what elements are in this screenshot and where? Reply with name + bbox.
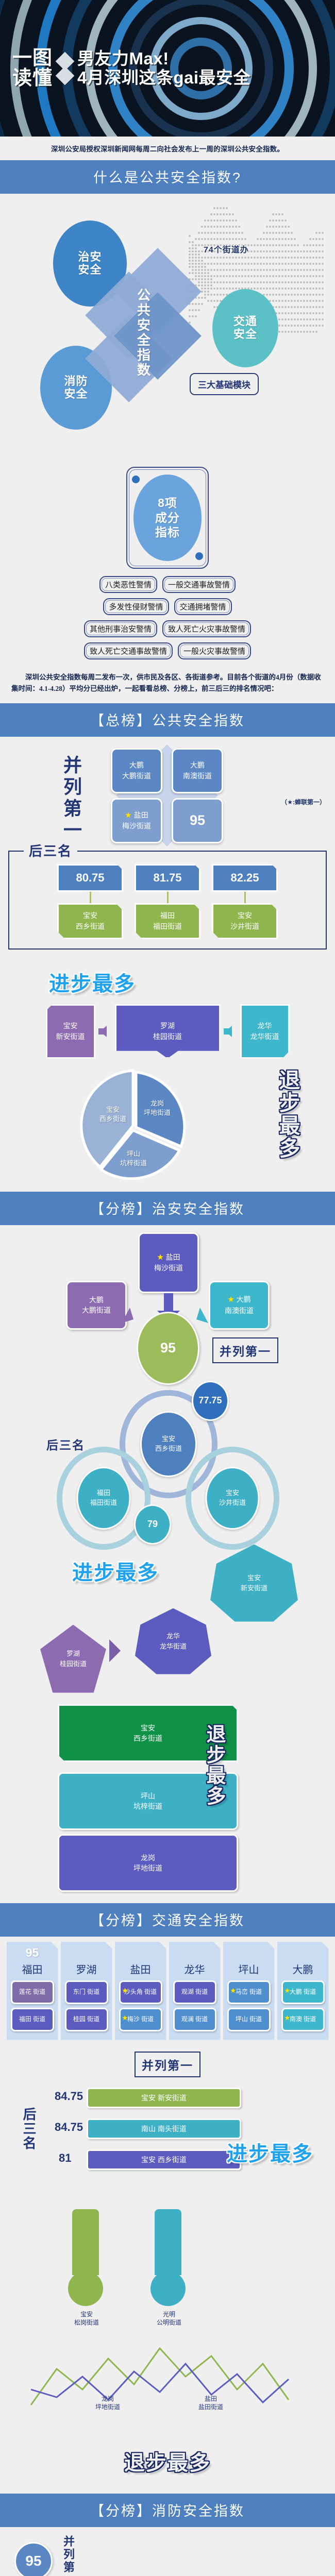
jiaotong-cell: 坪山 街道	[227, 2008, 271, 2031]
total-top-title: 并列第一	[58, 755, 85, 842]
thermo-bar-1	[72, 2209, 99, 2275]
star-legend: （★:蝉联第一）	[281, 798, 326, 806]
total-top-card-2: 大鹏 南澳街道	[172, 748, 223, 793]
total-top-quad: 大鹏 大鹏街道 大鹏 南澳街道 ★ 盐田 梅沙街道 95	[111, 748, 223, 843]
street: 沙井街道	[230, 921, 259, 932]
declined-line-svg	[0, 2328, 335, 2431]
street: 坑梓街道	[133, 1801, 162, 1811]
column-score	[63, 1946, 110, 1960]
total-bottom3-group: 后三名 80.75 宝安 西乡街道 81.75 福田 福田街道 82.25	[8, 851, 327, 950]
connector-stem	[90, 892, 91, 903]
jiaotong-most-improved-title: 进步最多	[227, 2143, 313, 2165]
indicator-chip: 一般交通事故警情	[162, 576, 236, 593]
bottom3-item: 80.75 宝安 西乡街道	[57, 864, 123, 939]
street: 坑梓街道	[120, 1159, 147, 1167]
badge-line2: 成分	[155, 511, 180, 524]
zhian-most-improved-title: 进步最多	[72, 1562, 159, 1584]
indicators-badge: 8项 成分 指标	[133, 474, 202, 561]
cell-street: 南澳 街道	[290, 2015, 316, 2023]
bubble-line2: 安全	[64, 387, 88, 400]
zhian-top-card-left: 大鹏 大鹏街道	[66, 1281, 127, 1330]
zhian-top-block: ★ 盐田 梅沙街道 大鹏 大鹏街道 ★ 大鹏 南澳街道 95 并列第一 宝安 西…	[0, 1225, 335, 1442]
jiaotong-cell: ★ 南澳 街道	[281, 2008, 325, 2031]
thermo-bulb-1	[68, 2271, 103, 2306]
district: 宝安	[80, 2311, 93, 2318]
street: 南澳街道	[225, 1306, 254, 1316]
district: 宝安	[247, 1573, 261, 1583]
jiaotong-most-declined-linechart: 龙岗 坪地街道 盐田 盐田街道	[0, 2328, 335, 2441]
indicator-chip: 其他刑事治安警情	[84, 620, 157, 637]
hero-right-title: 男友力Max! 4月深圳这条gai最安全	[77, 49, 250, 88]
xiaofang-top-header: 95 并列第一	[0, 2527, 335, 2576]
jiaotong-cell: 观湖 街道	[173, 1980, 216, 2004]
jiaotong-bottom3: 后三名 宝安 新安街道 84.75 南山 南头街道 84.75 宝安 西乡街道 …	[0, 2080, 335, 2209]
arrow-left-cyan-icon	[192, 1308, 208, 1327]
jiaotong-top-grid: 95 福田 莲花 街道 福田 街道 罗湖 东门 街道 桂园 街道 盐田 ★ 沙头…	[0, 1937, 335, 2040]
district: 罗湖	[66, 1649, 80, 1659]
pin-icon-topleft	[132, 476, 140, 483]
zhian-bottom3-ring-3: 宝安 沙井街道	[186, 1447, 279, 1550]
total-most-declined-title: 退步最多	[272, 1069, 303, 1160]
street: 龙华街道	[160, 1641, 187, 1652]
hero-left-line1: 一图	[12, 48, 53, 69]
card-district: 大鹏	[129, 760, 144, 770]
infographic-page: 一图 读懂 男友力Max! 4月深圳这条gai最安全 深圳公安局授权深圳新闻网每…	[0, 0, 335, 2576]
district: 龙华	[166, 1631, 180, 1641]
cell-street: 马峦 街道	[236, 1988, 262, 1996]
street: 桂园街道	[60, 1659, 87, 1669]
ring-label: 宝安 沙井街道	[206, 1467, 260, 1530]
jiaotong-bottom3-bar-3: 宝安 西乡街道	[87, 2149, 241, 2170]
street: 公明街道	[157, 2319, 181, 2326]
improved-card-center: 罗湖 桂园街道	[115, 1004, 221, 1059]
district: 福田	[97, 1489, 110, 1497]
star-icon: ★	[284, 1986, 291, 1995]
hero-left-line2: 读懂	[12, 69, 53, 89]
improved-card-left: 宝安 新安街道	[46, 1004, 95, 1059]
star-icon: ★	[230, 1986, 237, 1995]
zhian-improved-lower: 罗湖 桂园街道 龙华 龙华街道 宝安 西乡街道	[0, 1627, 335, 1730]
cell-street: 沙头角 街道	[124, 1988, 157, 1996]
jiaotong-cell: 莲花 街道	[11, 1980, 54, 2004]
jiaotong-cell: ★ 沙头角 街道	[119, 1980, 162, 2004]
star-icon: ★	[122, 1986, 128, 1995]
street: 桂园街道	[153, 1031, 182, 1042]
ring-score: 79	[134, 1504, 171, 1545]
pie-slice-label-2: 宝安 西乡街道	[90, 1105, 136, 1125]
pie-slice-label-3: 坪山 坑梓街道	[110, 1149, 157, 1169]
zhian-improved-poly-2: 罗湖 桂园街道	[40, 1625, 106, 1693]
column-district: 龙华	[172, 1961, 218, 1976]
section-band-zhian: 【分榜】治安安全指数	[0, 1192, 335, 1225]
thermo-bar-2	[155, 2209, 181, 2275]
card-street: 南澳街道	[183, 771, 212, 781]
bottom3-name: 宝安 沙井街道	[212, 903, 278, 939]
cell-street: 大鹏 街道	[290, 1988, 316, 1996]
pin-icon-bottomright	[195, 552, 203, 560]
diamond-divider-icon	[56, 55, 74, 82]
district: 宝安	[141, 2093, 156, 2103]
ring-score: 77.75	[192, 1381, 229, 1421]
street: 坪地街道	[133, 1863, 162, 1873]
district: 福田	[160, 910, 175, 921]
jiaotong-cell: ★ 梅沙 街道	[119, 2008, 162, 2031]
jiaotong-improved-thermometer: 宝安 松岗街道 光明 公明街道	[0, 2209, 335, 2328]
jiaotong-bottom3-score-3: 81	[59, 2151, 71, 2165]
jiaotong-most-declined-title: 退步最多	[124, 2452, 211, 2475]
bottom3-score: 82.25	[212, 864, 278, 892]
district: 宝安	[83, 910, 97, 921]
declined-label-1: 龙岗 坪地街道	[95, 2395, 120, 2412]
jiaotong-cell: ★ 大鹏 街道	[281, 1980, 325, 2004]
total-bottom3-title: 后三名	[24, 841, 77, 860]
thermo-label-1: 宝安 松岗街道	[62, 2310, 111, 2328]
column-district: 盐田	[118, 1961, 164, 1976]
zhian-declined-block: 坪山 坑梓街道 龙岗 坪地街道 退步最多	[0, 1730, 335, 1869]
district: 光明	[163, 2311, 175, 2318]
street: 梅沙街道	[154, 1263, 183, 1273]
street: 大鹏街道	[82, 1305, 111, 1315]
zhian-declined-bar-3: 龙岗 坪地街道	[58, 1834, 238, 1892]
xiaofang-top-title: 并列第一	[60, 2535, 76, 2576]
district: 大鹏	[237, 1295, 251, 1303]
improved-card-right: 龙华 龙华街道	[240, 1004, 290, 1059]
connector-stem	[167, 892, 169, 903]
jiaotong-column: 盐田 ★ 沙头角 街道 ★ 梅沙 街道	[115, 1942, 166, 2040]
jiaotong-column: 坪山 ★ 马峦 街道 坪山 街道	[223, 1942, 275, 2040]
intro-paragraph: 深圳公共安全指数每周二发布一次，供市民及各区、各街道参考。目前各个街道的4月份（…	[0, 663, 335, 703]
street: 新安街道	[241, 1583, 267, 1594]
bottom3-name: 宝安 西乡街道	[57, 903, 123, 939]
indicator-chip: 致人死亡火灾事故警情	[162, 620, 251, 637]
indicator-chip: 一般火灾事故警情	[178, 642, 251, 659]
zhian-top-card-center: ★ 盐田 梅沙街道	[138, 1232, 199, 1293]
zhian-bottom3-lower-rings: 福田 福田街道 79 宝安 沙井街道 进步最多 宝安 新安街道	[0, 1442, 335, 1627]
map-street-count-label: 74个街道办	[204, 243, 249, 255]
column-score	[118, 1946, 164, 1960]
district: 宝安	[106, 1106, 120, 1113]
district: 南山	[141, 2124, 156, 2134]
section-band-what-is: 什么是公共安全指数?	[0, 160, 335, 194]
jiaotong-column: 大鹏 ★ 大鹏 街道 ★ 南澳 街道	[277, 1942, 329, 2040]
indicators-badge-wrap: 8项 成分 指标	[0, 467, 335, 518]
bubble-line1: 交通	[233, 315, 257, 328]
district: 宝安	[226, 1489, 239, 1497]
jiaotong-column: 罗湖 东门 街道 桂园 街道	[61, 1942, 112, 2040]
street: 坪地街道	[95, 2403, 120, 2411]
zhian-top-card-right: ★ 大鹏 南澳街道	[209, 1281, 270, 1330]
total-most-improved-title: 进步最多	[49, 973, 136, 995]
zhian-top-title: 并列第一	[212, 1337, 278, 1363]
street: 南头街道	[158, 2124, 187, 2134]
section-band-total: 【总榜】公共安全指数	[0, 703, 335, 737]
cell-street: 梅沙 街道	[127, 2015, 154, 2023]
thermo-label-2: 光明 公明街道	[144, 2310, 194, 2328]
xiaofang-top-score: 95	[14, 2542, 53, 2576]
total-top-card-1: 大鹏 大鹏街道	[111, 748, 162, 793]
arrow-right-purple-icon	[109, 1639, 121, 1662]
indicator-chip: 多发性侵财警情	[103, 598, 169, 615]
column-district: 福田	[9, 1961, 56, 1976]
connector-stem	[244, 892, 246, 903]
indicator-chip: 八类恶性警情	[99, 576, 157, 593]
line-series-purple	[31, 2364, 289, 2402]
lede-text: 深圳公安局授权深圳新闻网每周二向社会发布上一周的深圳公共安全指数。	[0, 137, 335, 160]
indicators-frame: 8项 成分 指标	[126, 467, 209, 569]
jiaotong-cell: 观澜 街道	[173, 2008, 216, 2031]
bubble-line1: 消防	[64, 375, 88, 387]
district: 龙岗	[150, 1099, 164, 1107]
column-district: 大鹏	[280, 1961, 326, 1976]
jiaotong-column: 95 福田 莲花 街道 福田 街道	[7, 1942, 58, 2040]
bottom3-name: 福田 福田街道	[135, 903, 200, 939]
line-series-green	[31, 2348, 289, 2405]
ring-label: 福田 福田街道	[77, 1467, 131, 1530]
total-most-improved-flow: 宝安 新安街道 罗湖 桂园街道 龙华 龙华街道	[0, 997, 335, 1063]
street: 福田街道	[153, 921, 182, 932]
total-most-declined-pie: 龙岗 坪地街道 宝安 西乡街道 坪山 坑梓街道 退步最多	[0, 1063, 335, 1192]
street: 西乡街道	[158, 2155, 187, 2165]
street: 新安街道	[158, 2093, 187, 2103]
badge-line3: 指标	[155, 526, 180, 539]
district: 罗湖	[160, 1021, 175, 1031]
section-band-jiaotong: 【分榜】交通安全指数	[0, 1903, 335, 1937]
street: 沙井街道	[219, 1499, 246, 1506]
star-icon: ★	[227, 1295, 234, 1304]
card-district: 大鹏	[190, 760, 205, 770]
bubble-line2: 安全	[233, 328, 257, 341]
indicator-chip: 交通拥堵警情	[174, 598, 232, 615]
total-top-card-3: ★ 盐田 梅沙街道	[111, 798, 162, 843]
district: 盐田	[166, 1253, 180, 1261]
arrow-left-purple-icon	[98, 1025, 112, 1038]
thermo-bulb-2	[150, 2271, 186, 2306]
district: 龙华	[258, 1021, 272, 1031]
street: 松岗街道	[74, 2319, 99, 2326]
card-street: 梅沙街道	[122, 821, 151, 831]
pie-slice-label-1: 龙岗 坪地街道	[134, 1099, 180, 1118]
column-district: 坪山	[226, 1961, 272, 1976]
bottom3-score: 81.75	[135, 864, 200, 892]
center-label-wrap: 公共安全指数	[92, 256, 195, 410]
pie-chart: 龙岗 坪地街道 宝安 西乡街道 坪山 坑梓街道	[78, 1068, 192, 1187]
bottom3-item: 82.25 宝安 沙井街道	[212, 864, 278, 939]
jiaotong-cell: 桂园 街道	[65, 2008, 108, 2031]
hero-right-line2: 4月深圳这条gai最安全	[77, 69, 250, 88]
district: 宝安	[141, 2155, 156, 2165]
street: 西乡街道	[76, 921, 105, 932]
hero-banner: 一图 读懂 男友力Max! 4月深圳这条gai最安全	[0, 0, 335, 137]
module-diagram: 74个街道办 治安 安全 交通 安全 消防 安全 公共安全指数 三大基础模块	[0, 194, 335, 467]
district: 宝安	[238, 910, 252, 921]
card-district: 盐田	[134, 810, 148, 820]
three-modules-tag: 三大基础模块	[190, 373, 259, 395]
street: 龙华街道	[250, 1031, 279, 1042]
total-top-score: 95	[172, 798, 223, 843]
street: 盐田街道	[198, 2403, 223, 2411]
arrow-left-cyan-icon	[224, 1025, 237, 1038]
district: 宝安	[63, 1021, 78, 1031]
total-top-rank-block: 并列第一 大鹏 大鹏街道 大鹏 南澳街道 ★ 盐田 梅沙街道 95 （★:蝉联第…	[0, 737, 335, 848]
bottom3-item: 81.75 福田 福田街道	[135, 864, 200, 939]
column-score	[226, 1946, 272, 1960]
jiaotong-cell: 福田 街道	[11, 2008, 54, 2031]
star-icon: ★	[284, 2013, 291, 2023]
zhian-bottom3-ring-2: 福田 福田街道 79	[57, 1447, 150, 1550]
module-bubble-traffic: 交通 安全	[212, 289, 278, 367]
district: 坪山	[127, 1150, 140, 1158]
zhian-top-score: 95	[137, 1312, 199, 1385]
jiaotong-bottom3-bar-2: 南山 南头街道	[87, 2119, 241, 2139]
column-score: 95	[9, 1946, 56, 1960]
street: 福田街道	[90, 1499, 117, 1506]
jiaotong-cell: ★ 马峦 街道	[227, 1980, 271, 2004]
badge-line1: 8项	[158, 496, 177, 510]
street: 新安街道	[56, 1031, 85, 1042]
street: 西乡街道	[99, 1115, 126, 1123]
district: 龙岗	[102, 2395, 114, 2402]
jiaotong-top-title: 并列第一	[135, 2052, 200, 2077]
declined-label-2: 盐田 盐田街道	[198, 2395, 223, 2412]
star-icon: ★	[157, 1253, 163, 1262]
column-district: 罗湖	[63, 1961, 110, 1976]
hero-left-title: 一图 读懂	[12, 48, 53, 89]
zhian-most-declined-title: 退步最多	[200, 1724, 228, 1806]
star-icon: ★	[122, 2013, 128, 2023]
column-score	[172, 1946, 218, 1960]
jiaotong-column: 龙华 观湖 街道 观澜 街道	[169, 1942, 221, 2040]
jiaotong-bottom3-score-2: 84.75	[55, 2121, 83, 2134]
hero-right-line1: 男友力Max!	[77, 49, 250, 69]
zhian-improved-poly-1: 宝安 新安街道	[210, 1545, 298, 1622]
public-safety-index-label: 公共安全指数	[134, 288, 153, 378]
star-icon: ★	[125, 810, 131, 821]
indicator-chip: 致人死亡交通事故警情	[84, 642, 173, 659]
jiaotong-bottom3-score-1: 84.75	[55, 2090, 83, 2103]
jiaotong-bottom3-bar-1: 宝安 新安街道	[87, 2088, 241, 2108]
column-score	[280, 1946, 326, 1960]
district: 大鹏	[89, 1295, 104, 1305]
jiaotong-cell: 东门 街道	[65, 1980, 108, 2004]
jiaotong-bottom3-title: 后三名	[20, 2107, 39, 2150]
card-street: 大鹏街道	[122, 771, 151, 781]
district: 坪山	[141, 1791, 155, 1801]
district: 盐田	[205, 2395, 217, 2402]
bottom3-score: 80.75	[57, 864, 123, 892]
district: 龙岗	[141, 1853, 155, 1863]
section-band-xiaofang: 【分榜】消防安全指数	[0, 2494, 335, 2527]
street: 坪地街道	[144, 1109, 171, 1116]
